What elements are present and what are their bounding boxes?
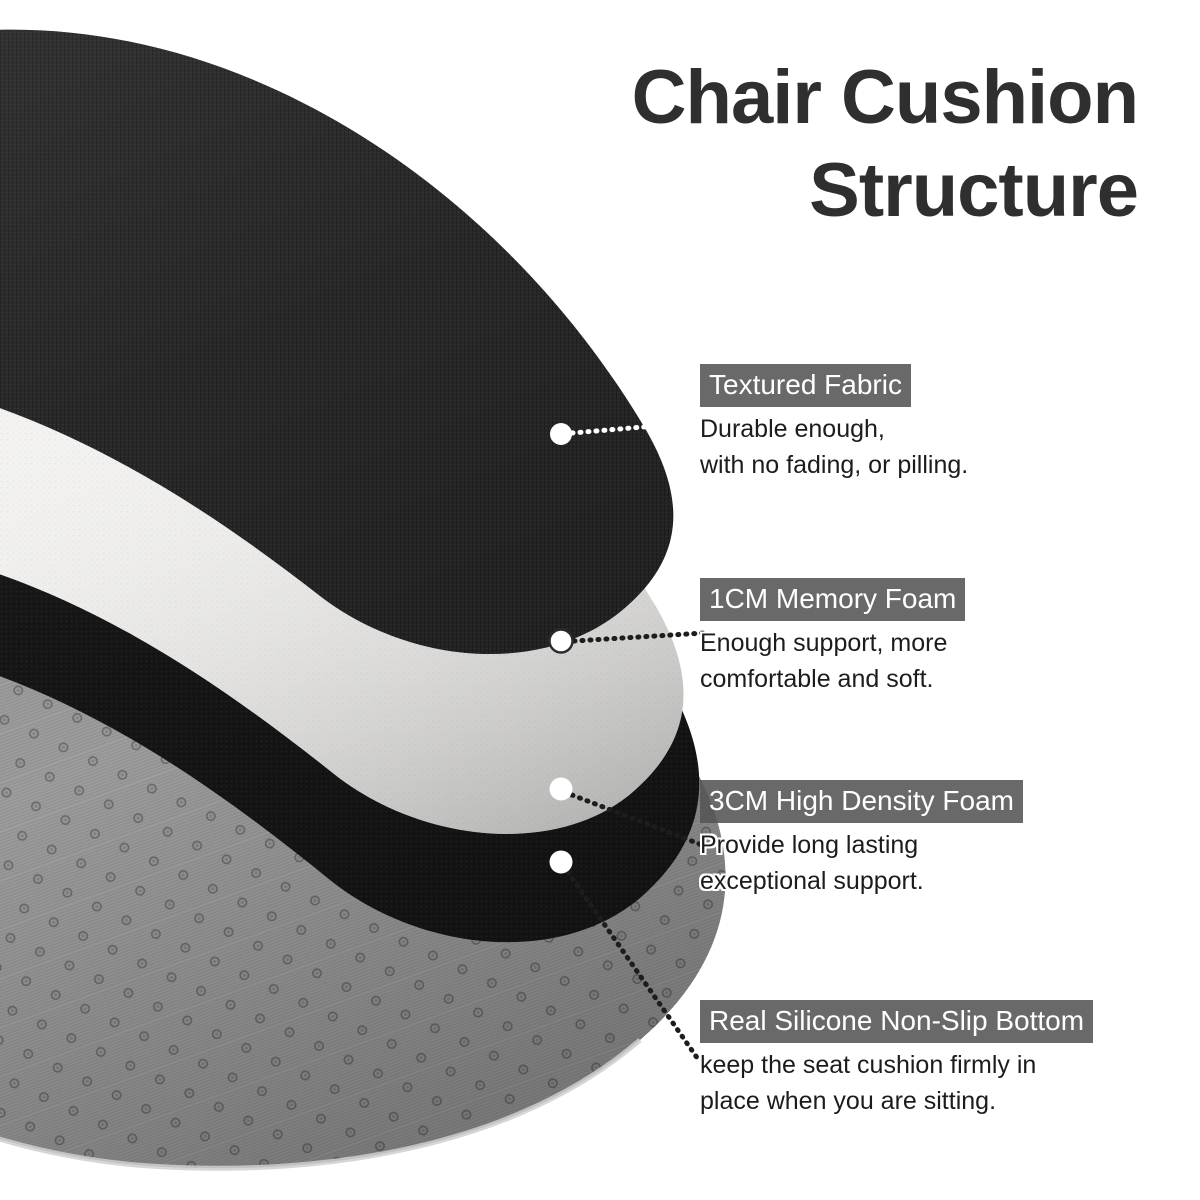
title-line-2: Structure bbox=[498, 145, 1138, 238]
chair-cushion-infographic: Chair Cushion Structure Textured Fabric … bbox=[0, 0, 1200, 1200]
callout-textured-fabric: Textured Fabric Durable enough, with no … bbox=[700, 364, 968, 483]
callout-body-textured-fabric: Durable enough, with no fading, or pilli… bbox=[700, 412, 968, 483]
title-line-1: Chair Cushion bbox=[498, 52, 1138, 145]
callout-header-high-density-foam: 3CM High Density Foam bbox=[700, 780, 1023, 823]
callout-body-silicone-bottom: keep the seat cushion firmly in place wh… bbox=[700, 1048, 1093, 1119]
callout-header-silicone-bottom: Real Silicone Non-Slip Bottom bbox=[700, 1000, 1093, 1043]
callout-high-density-foam: 3CM High Density Foam Provide long lasti… bbox=[700, 780, 1023, 899]
callout-header-textured-fabric: Textured Fabric bbox=[700, 364, 911, 407]
page-title: Chair Cushion Structure bbox=[498, 52, 1138, 237]
callout-body-memory-foam: Enough support, more comfortable and sof… bbox=[700, 626, 965, 697]
callout-silicone-bottom: Real Silicone Non-Slip Bottom keep the s… bbox=[700, 1000, 1093, 1119]
callout-memory-foam: 1CM Memory Foam Enough support, more com… bbox=[700, 578, 965, 697]
callout-body-high-density-foam: Provide long lasting exceptional support… bbox=[700, 828, 1023, 899]
callout-header-memory-foam: 1CM Memory Foam bbox=[700, 578, 965, 621]
